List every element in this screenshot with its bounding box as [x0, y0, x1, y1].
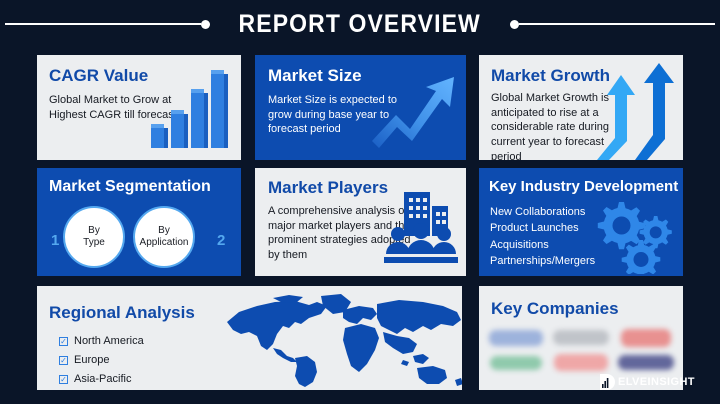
segment-number: 2 [217, 232, 225, 249]
gears-icon [589, 194, 679, 274]
bar-chart-icon [151, 72, 231, 148]
list-item: ✓ Asia-Pacific [59, 370, 144, 389]
list-item: Acquisitions [490, 237, 595, 253]
logo-cell [614, 351, 677, 374]
cagr-title: CAGR Value [49, 67, 148, 85]
bar-chart-bar [171, 114, 188, 148]
company-logo-4 [490, 356, 542, 370]
bar-chart-bar [191, 93, 208, 148]
report-overview-infographic: REPORT OVERVIEW CAGR Value Global Market… [0, 0, 720, 404]
check-icon: ✓ [59, 375, 68, 384]
company-logo-6 [618, 355, 674, 370]
list-item: ✓ North America [59, 332, 144, 351]
regional-analysis-list: ✓ North America ✓ Europe ✓ Asia-Pacific [59, 332, 144, 389]
segment-label-line2: Application [140, 237, 189, 249]
delveinsight-logo: ELVEINSIGHT [600, 374, 695, 390]
bar-chart-bar [151, 128, 168, 148]
bar-chart-bar [211, 74, 228, 148]
company-logo-5 [554, 354, 608, 371]
dot-marker-icon [510, 20, 519, 29]
delveinsight-d-mark-icon [600, 374, 615, 390]
company-logo-3 [621, 329, 671, 347]
header-rule-left-group [5, 20, 210, 29]
card-cagr-value: CAGR Value Global Market to Grow at High… [37, 55, 241, 160]
segmentation-diagram: 1 By Type By Application 2 [49, 206, 229, 268]
card-regional-analysis: Regional Analysis ✓ North America ✓ Euro… [37, 286, 462, 390]
dual-up-arrow-icon [595, 61, 681, 160]
region-label: Europe [74, 351, 109, 370]
region-label: Asia-Pacific [74, 370, 131, 389]
card-key-industry-development: Key Industry Development New Collaborati… [479, 168, 683, 276]
segment-number: 1 [51, 232, 59, 249]
dot-marker-icon [201, 20, 210, 29]
segmentation-title: Market Segmentation [49, 179, 211, 196]
company-logo-grid [485, 326, 677, 374]
market-players-title: Market Players [268, 179, 388, 197]
card-market-size: Market Size Market Size is expected to g… [255, 55, 466, 160]
world-map-icon [217, 292, 462, 388]
list-item: Partnerships/Mergers [490, 253, 595, 269]
market-size-title: Market Size [268, 67, 362, 85]
logo-cell [485, 326, 548, 349]
buildings-people-icon [384, 190, 458, 266]
header: REPORT OVERVIEW [0, 0, 720, 48]
market-growth-title: Market Growth [491, 67, 610, 85]
company-logo-2 [553, 330, 609, 345]
logo-cell [485, 351, 548, 374]
card-market-growth: Market Growth Global Market Growth is an… [479, 55, 683, 160]
segment-bubble-type: By Type [63, 206, 125, 268]
horizontal-rule-icon [519, 23, 715, 25]
header-rule-right-group [510, 20, 715, 29]
page-title: REPORT OVERVIEW [222, 10, 497, 39]
list-item: Product Launches [490, 220, 595, 236]
segment-label-line2: Type [83, 237, 105, 249]
logo-cell [614, 326, 677, 349]
logo-cell [550, 326, 613, 349]
zigzag-up-arrow-icon [370, 69, 460, 151]
brand-text: ELVEINSIGHT [618, 376, 695, 388]
list-item: New Collaborations [490, 204, 595, 220]
card-market-players: Market Players A comprehensive analysis … [255, 168, 466, 276]
industry-development-title: Key Industry Development [489, 179, 678, 195]
industry-development-list: New Collaborations Product Launches Acqu… [490, 204, 595, 269]
company-logo-1 [489, 330, 543, 346]
segment-label-line1: By [158, 225, 170, 237]
list-item: ✓ Europe [59, 351, 144, 370]
region-label: North America [74, 332, 144, 351]
segment-label-line1: By [88, 225, 100, 237]
logo-cell [550, 351, 613, 374]
segment-bubble-application: By Application [133, 206, 195, 268]
key-companies-title: Key Companies [491, 300, 619, 318]
check-icon: ✓ [59, 356, 68, 365]
check-icon: ✓ [59, 337, 68, 346]
card-market-segmentation: Market Segmentation 1 By Type By Applica… [37, 168, 241, 276]
horizontal-rule-icon [5, 23, 201, 25]
regional-analysis-title: Regional Analysis [49, 304, 195, 322]
